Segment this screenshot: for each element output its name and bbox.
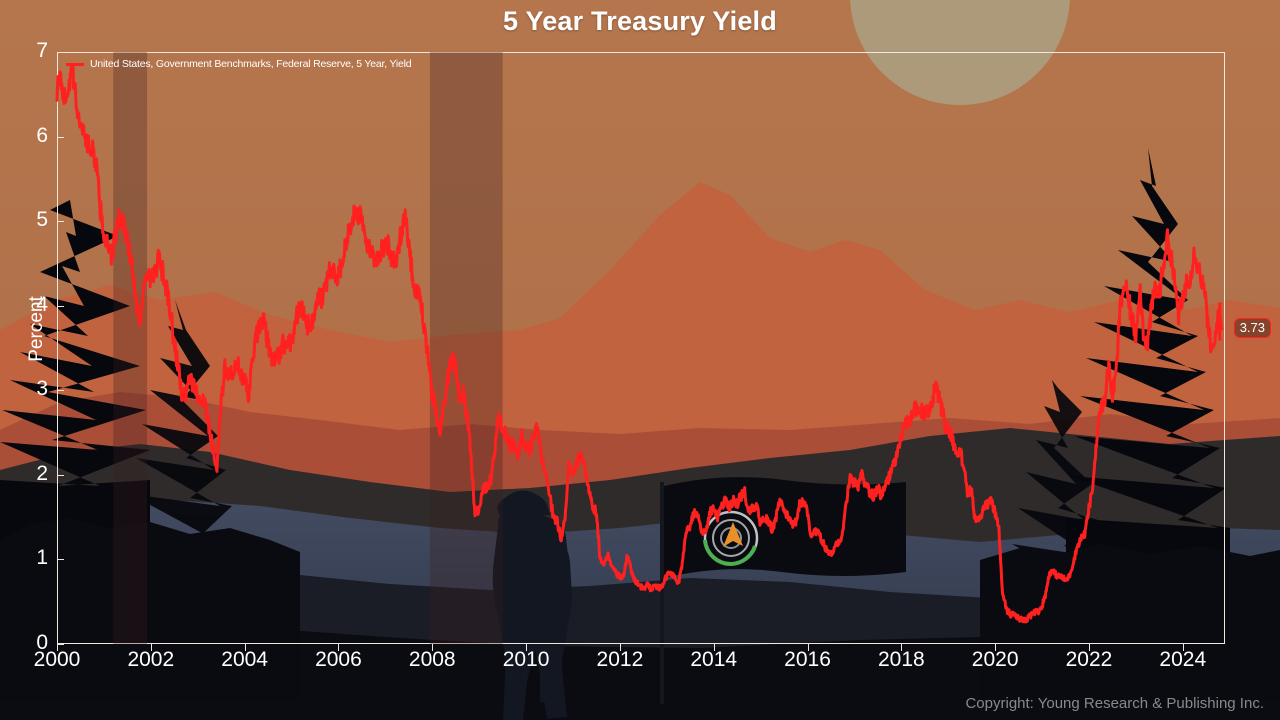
x-tick-label: 2020	[955, 648, 1035, 672]
legend-swatch-yield	[66, 63, 84, 66]
x-tick-mark	[338, 644, 339, 651]
x-tick-mark	[1089, 644, 1090, 651]
y-tick-mark	[57, 52, 64, 53]
y-tick-mark	[57, 390, 64, 391]
x-tick-mark	[995, 644, 996, 651]
x-tick-mark	[245, 644, 246, 651]
y-tick-mark	[57, 644, 64, 645]
x-tick-label: 2008	[392, 648, 472, 672]
y-tick-mark	[57, 221, 64, 222]
y-tick-label: 5	[8, 208, 48, 232]
x-tick-label: 2018	[861, 648, 941, 672]
x-tick-mark	[808, 644, 809, 651]
y-tick-label: 7	[8, 39, 48, 63]
copyright-notice: Copyright: Young Research & Publishing I…	[965, 695, 1264, 712]
legend-label-yield: United States, Government Benchmarks, Fe…	[90, 58, 411, 70]
x-tick-mark	[714, 644, 715, 651]
x-tick-label: 2010	[486, 648, 566, 672]
x-tick-label: 2006	[298, 648, 378, 672]
x-tick-mark	[57, 644, 58, 651]
y-tick-mark	[57, 475, 64, 476]
y-axis-label: Percent	[26, 269, 48, 389]
chart-stage: 5 Year Treasury Yield United States, Gov…	[0, 0, 1280, 720]
recession-band	[113, 52, 147, 644]
recession-band	[430, 52, 503, 644]
x-tick-label: 2012	[580, 648, 660, 672]
y-tick-mark	[57, 306, 64, 307]
chart-layer: 5 Year Treasury Yield United States, Gov…	[0, 0, 1280, 720]
x-tick-label: 2002	[111, 648, 191, 672]
y-tick-label: 6	[8, 124, 48, 148]
series-line-yield	[57, 65, 1222, 622]
x-tick-label: 2014	[674, 648, 754, 672]
last-value-badge[interactable]: 3.73	[1234, 318, 1271, 338]
x-tick-label: 2016	[768, 648, 848, 672]
x-tick-label: 2000	[17, 648, 97, 672]
x-tick-label: 2024	[1143, 648, 1223, 672]
x-tick-mark	[901, 644, 902, 651]
y-tick-label: 3	[8, 377, 48, 401]
plot-canvas	[0, 0, 1280, 720]
x-tick-label: 2004	[205, 648, 285, 672]
x-tick-mark	[151, 644, 152, 651]
y-tick-label: 4	[8, 293, 48, 317]
y-tick-mark	[57, 559, 64, 560]
x-tick-mark	[620, 644, 621, 651]
x-tick-mark	[526, 644, 527, 651]
y-tick-mark	[57, 137, 64, 138]
x-tick-label: 2022	[1049, 648, 1129, 672]
y-tick-label: 2	[8, 462, 48, 486]
x-tick-mark	[1183, 644, 1184, 651]
legend[interactable]: United States, Government Benchmarks, Fe…	[66, 58, 411, 70]
y-tick-label: 1	[8, 546, 48, 570]
x-tick-mark	[432, 644, 433, 651]
